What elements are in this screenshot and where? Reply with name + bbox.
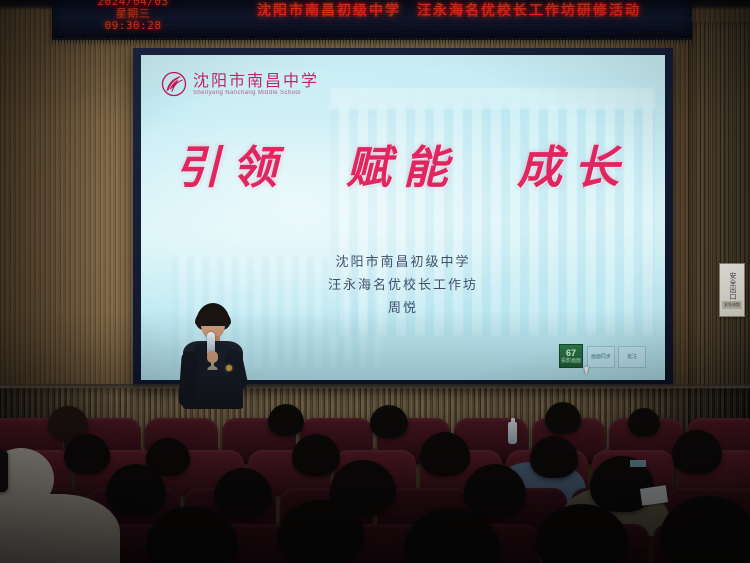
slide-subtitle-line-1: 沈阳市南昌初级中学 bbox=[141, 251, 665, 274]
audience-head bbox=[628, 408, 660, 436]
projection-status-label: 投影画面 bbox=[561, 358, 581, 364]
audience-head bbox=[214, 468, 272, 518]
audience-member-with-phone bbox=[0, 448, 132, 563]
led-banner-board: 2024/04/03 星期三 09:30:28 沈阳市南昌初级中学 汪永海名优校… bbox=[52, 0, 692, 40]
audience-head bbox=[292, 434, 340, 476]
paper-handout bbox=[640, 485, 668, 505]
audience-head bbox=[672, 430, 722, 474]
school-logo-en: Shenyang Nanchang Middle School bbox=[193, 89, 319, 97]
audience-head bbox=[464, 464, 526, 518]
projection-status-number: 67 bbox=[566, 349, 576, 358]
water-bottle bbox=[508, 422, 517, 444]
school-logo-text: 沈阳市南昌中学 Shenyang Nanchang Middle School bbox=[193, 72, 319, 97]
annotate-button[interactable]: 批注 bbox=[618, 346, 646, 368]
presenter-hand bbox=[207, 351, 218, 363]
led-clock: 2024/04/03 星期三 09:30:28 bbox=[68, 0, 198, 32]
auditorium-photo: 2024/04/03 星期三 09:30:28 沈阳市南昌初级中学 汪永海名优校… bbox=[0, 0, 750, 563]
slide-title: 引领 赋能 成长 bbox=[141, 143, 665, 193]
laptop-screen-glow bbox=[630, 460, 646, 467]
phoenix-logo-icon bbox=[161, 71, 187, 97]
audience-head bbox=[530, 436, 578, 478]
school-logo-cn: 沈阳市南昌中学 bbox=[193, 72, 319, 89]
audience-head bbox=[420, 432, 470, 476]
audience-head bbox=[545, 402, 581, 434]
audience-head bbox=[268, 404, 304, 436]
presenter bbox=[176, 303, 250, 408]
led-board-mount bbox=[52, 38, 692, 45]
smartphone-icon bbox=[0, 450, 8, 492]
presenter-lapel-pin bbox=[226, 365, 232, 371]
screen-overlay-widget[interactable]: 67 投影画面 画面同步 批注 bbox=[559, 344, 646, 368]
screen-overlay-buttons[interactable]: 画面同步 批注 bbox=[587, 346, 646, 368]
audience-head bbox=[370, 405, 408, 438]
projection-status-badge[interactable]: 67 投影画面 bbox=[559, 344, 583, 368]
exit-sign-text: 安全出口 bbox=[728, 272, 736, 300]
slide-subtitle-line-2: 汪永海名优校长工作坊 bbox=[141, 274, 665, 297]
exit-sign-strip: 紧急疏散 bbox=[722, 301, 742, 309]
exit-sign: 安全出口 紧急疏散 bbox=[719, 263, 745, 317]
school-logo: 沈阳市南昌中学 Shenyang Nanchang Middle School bbox=[161, 71, 319, 97]
led-time: 09:30:28 bbox=[68, 20, 198, 32]
led-marquee-text: 沈阳市南昌初级中学 汪永海名优校长工作坊研修活动 bbox=[212, 1, 686, 19]
